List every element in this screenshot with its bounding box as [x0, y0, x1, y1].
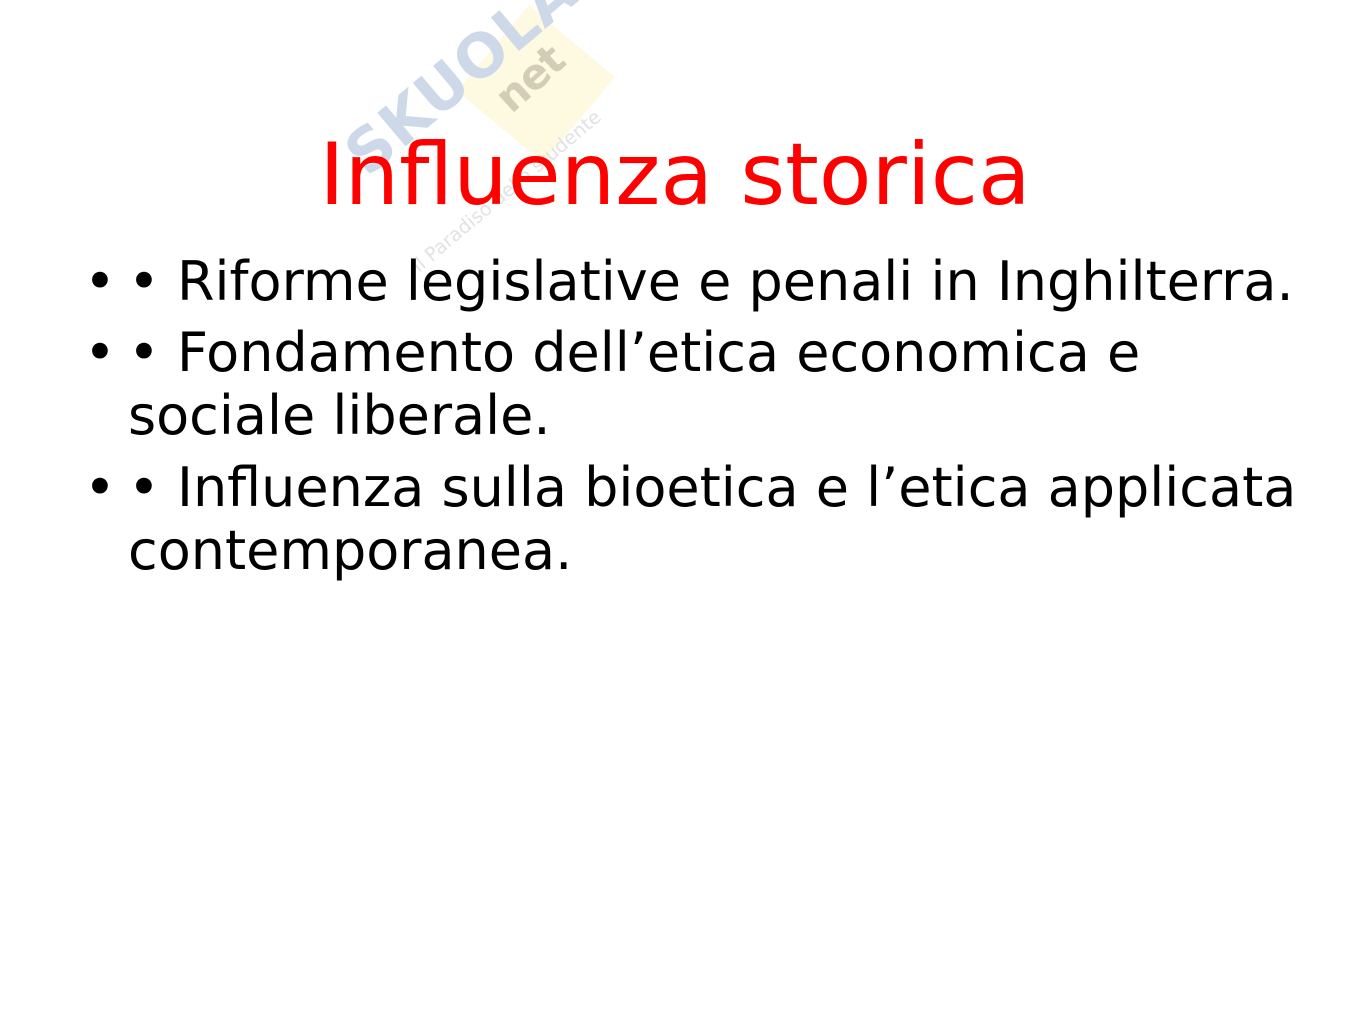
- presentation-slide: net SKUOLA il Paradiso dello studente In…: [0, 0, 1350, 1013]
- list-item: • • Fondamento dell’etica economica e so…: [70, 321, 1300, 447]
- list-item-text: • Influenza sulla bioetica e l’etica app…: [128, 456, 1300, 582]
- slide-title: Influenza storica: [0, 132, 1350, 218]
- list-item: • • Influenza sulla bioetica e l’etica a…: [70, 456, 1300, 582]
- list-item-text: • Riforme legislative e penali in Inghil…: [128, 250, 1300, 313]
- bullet-icon: •: [84, 321, 116, 384]
- bullet-icon: •: [84, 250, 116, 313]
- slide-bullet-list: • • Riforme legislative e penali in Ingh…: [70, 250, 1300, 582]
- watermark-net-text: net: [485, 35, 574, 122]
- list-item: • • Riforme legislative e penali in Ingh…: [70, 250, 1300, 313]
- bullet-icon: •: [84, 456, 116, 519]
- list-item-text: • Fondamento dell’etica economica e soci…: [128, 321, 1300, 447]
